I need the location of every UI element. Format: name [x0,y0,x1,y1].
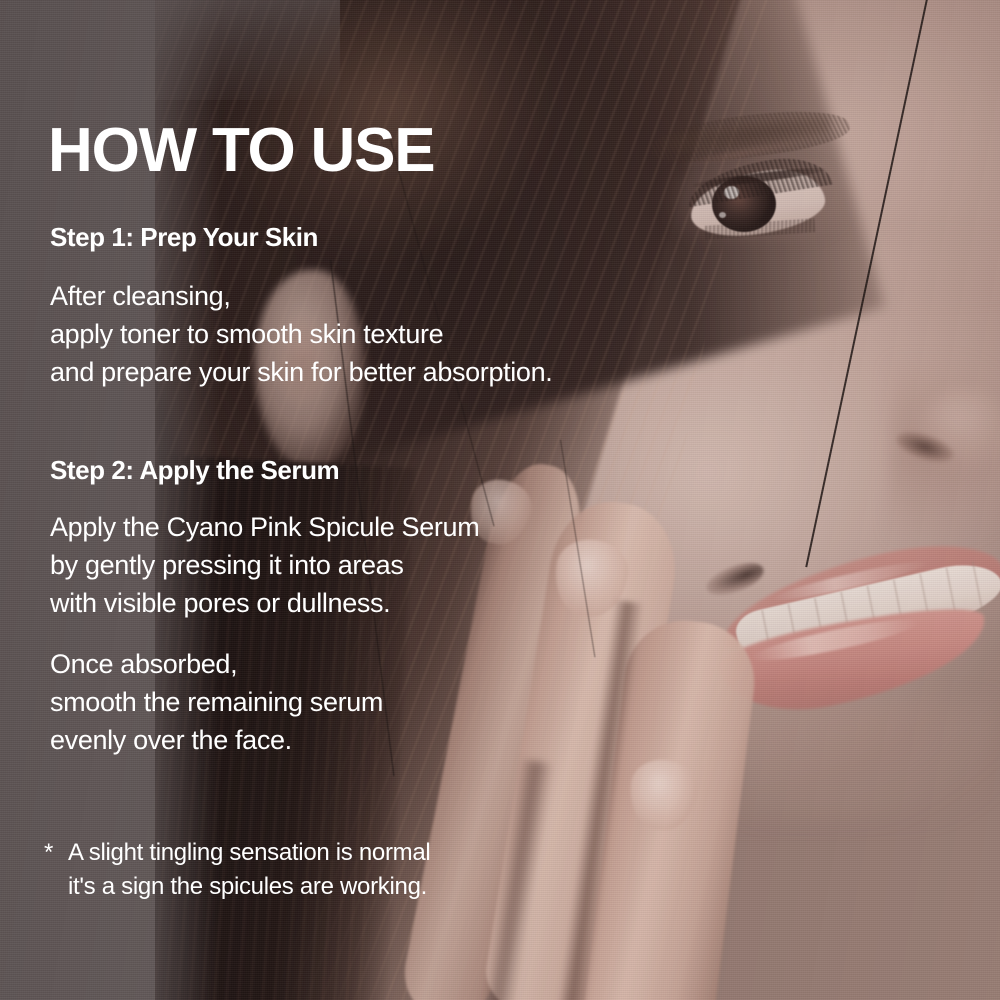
asterisk-marker: * [44,836,68,870]
footnote-line-2: it's a sign the spicules are working. [68,870,427,904]
footnote-row-2: it's a sign the spicules are working. [44,870,430,904]
step-2-line-3: with visible pores or dullness. [50,584,479,622]
footnote-row-1: *A slight tingling sensation is normal [44,836,430,870]
how-to-use-panel: HOW TO USE Step 1: Prep Your Skin After … [0,0,1000,1000]
step-1-heading: Step 1: Prep Your Skin [50,222,318,253]
step-1-line-1: After cleansing, [50,277,552,315]
page-title: HOW TO USE [48,120,434,182]
step-2b-line-1: Once absorbed, [50,645,383,683]
footnote-line-1: A slight tingling sensation is normal [68,836,430,870]
step-2-body: Apply the Cyano Pink Spicule Serum by ge… [50,508,479,622]
step-2b-line-2: smooth the remaining serum [50,683,383,721]
footnote: *A slight tingling sensation is normal i… [44,836,430,904]
text-content: HOW TO USE Step 1: Prep Your Skin After … [0,0,1000,1000]
step-2b-line-3: evenly over the face. [50,721,383,759]
step-1-line-3: and prepare your skin for better absorpt… [50,353,552,391]
step-2-body-secondary: Once absorbed, smooth the remaining seru… [50,645,383,759]
step-2-heading: Step 2: Apply the Serum [50,455,339,486]
step-2-line-1: Apply the Cyano Pink Spicule Serum [50,508,479,546]
step-1-line-2: apply toner to smooth skin texture [50,315,552,353]
step-2-line-2: by gently pressing it into areas [50,546,479,584]
step-1-body: After cleansing, apply toner to smooth s… [50,277,552,391]
